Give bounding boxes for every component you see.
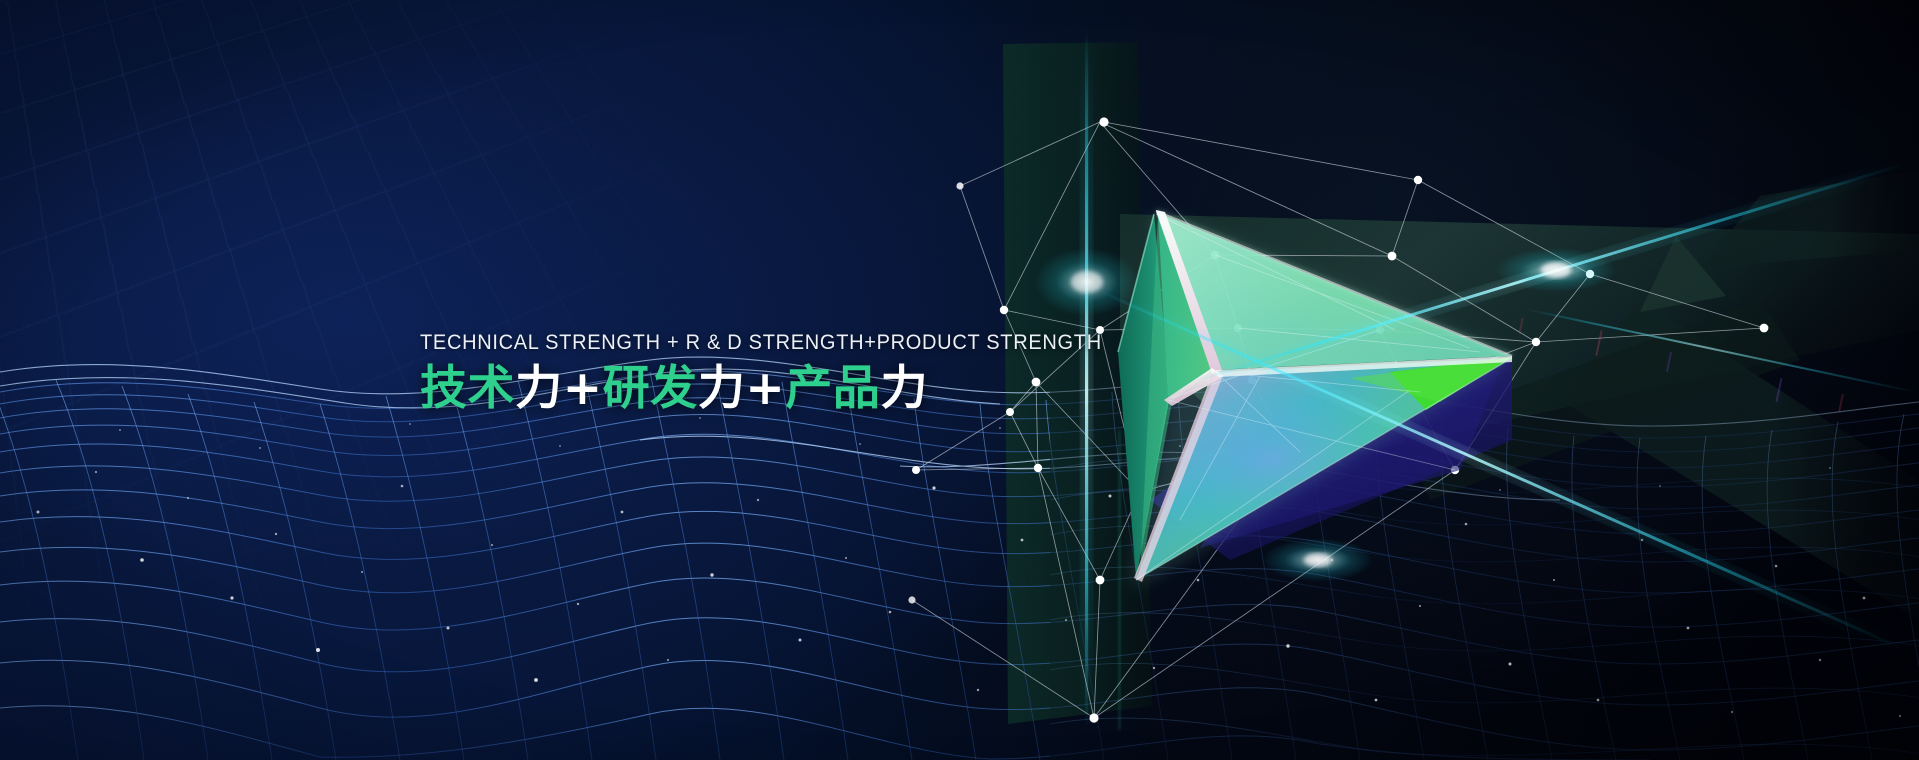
light-streaks (0, 0, 1919, 760)
headline-part-4: 力 (698, 361, 746, 416)
background-perspective-grid (0, 0, 1491, 760)
eyebrow-subtitle: TECHNICAL STRENGTH + R & D STRENGTH+PROD… (420, 330, 1015, 355)
headline-part-3: 研发 (603, 361, 698, 416)
particle-dots (0, 0, 1919, 760)
wireframe-terrain-mesh (0, 0, 1919, 760)
node-network-lines (0, 0, 1919, 760)
film-grain-overlay (0, 0, 1919, 760)
headline-part-2: 力 (515, 361, 563, 416)
dark-geometric-slabs (0, 0, 1919, 760)
headline-part-1: 技术 (420, 361, 515, 416)
headline-plus-2: + (745, 361, 785, 416)
hero-banner: TECHNICAL STRENGTH + R & D STRENGTH+PROD… (0, 0, 1919, 760)
headline-plus-1: + (563, 361, 603, 416)
page-title: 技术力+研发力+产品力 (420, 364, 1060, 415)
vignette-overlay (0, 0, 1919, 760)
headline-part-5: 产品 (785, 361, 880, 416)
headline-part-6: 力 (880, 361, 928, 416)
arrow-prism-3d-icon (0, 0, 1919, 760)
headline-text-block: TECHNICAL STRENGTH + R & D STRENGTH+PROD… (420, 330, 1060, 415)
